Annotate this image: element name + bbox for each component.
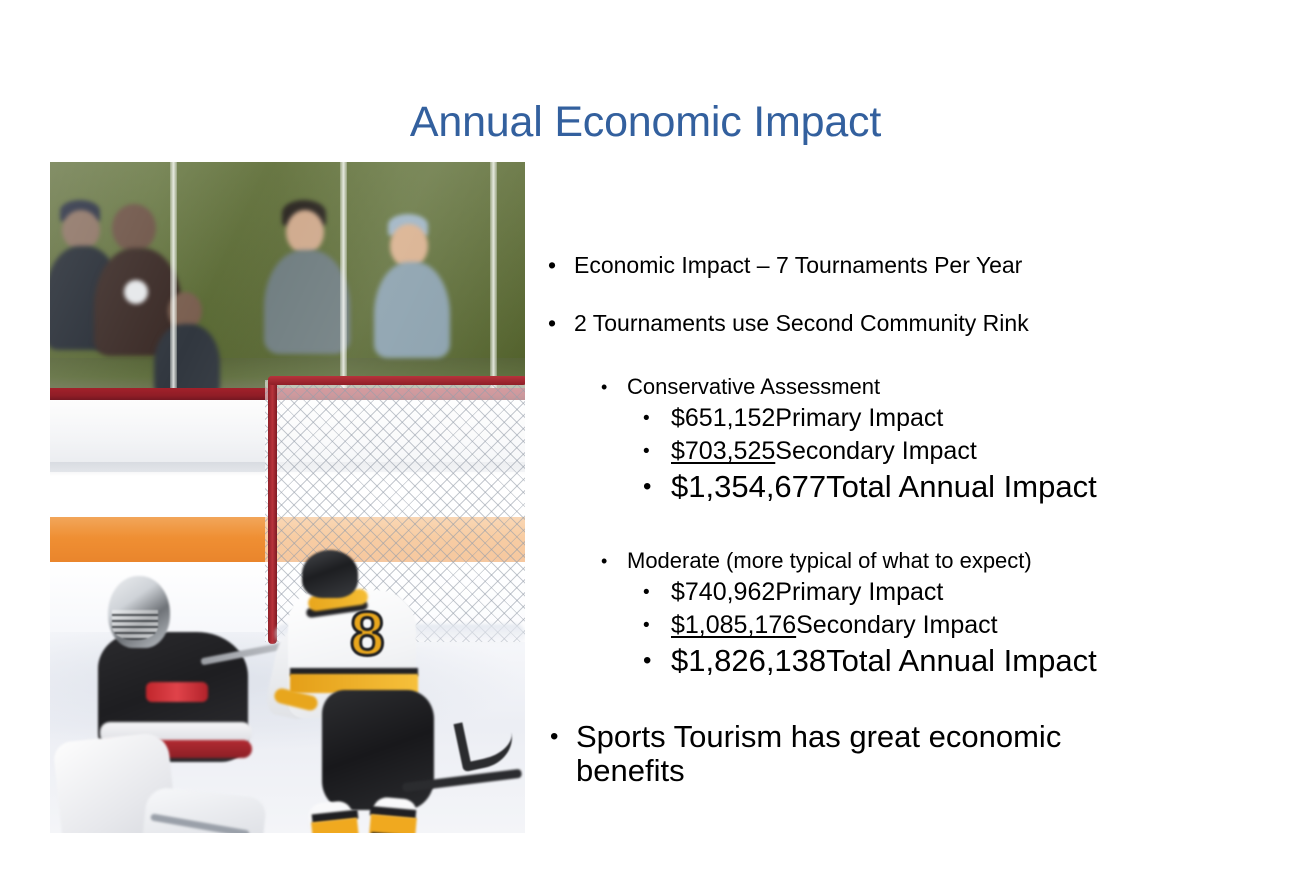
amount-primary: $651,152 <box>671 402 775 435</box>
bullet-glyph: • <box>548 308 556 338</box>
bullet-glyph: • <box>550 720 558 754</box>
spacer <box>548 338 1248 372</box>
spacer <box>548 280 1248 308</box>
amount-label: Secondary Impact <box>775 435 977 468</box>
bullet-glyph: • <box>643 609 650 642</box>
amount-secondary: $1,085,176 <box>671 609 796 642</box>
skater-pants <box>322 690 434 810</box>
bullet-glyph: • <box>643 435 650 468</box>
amount-label: Total Annual Impact <box>826 468 1097 506</box>
amount-primary: $740,962 <box>671 576 775 609</box>
amount-label: Total Annual Impact <box>826 642 1097 680</box>
heading-moderate-assessment: • Moderate (more typical of what to expe… <box>548 546 1248 576</box>
moderate-total-impact: • $1,826,138 Total Annual Impact <box>548 642 1248 680</box>
sock-band-gold <box>369 814 417 833</box>
bullet-economic-impact: • Economic Impact – 7 Tournaments Per Ye… <box>548 250 1248 280</box>
conservative-primary-impact: • $651,152 Primary Impact <box>548 402 1248 435</box>
skater-helmet <box>302 550 358 598</box>
bullet-second-rink: • 2 Tournaments use Second Community Rin… <box>548 308 1248 338</box>
glass-reflection <box>50 162 525 392</box>
moderate-secondary-impact: • $1,085,176 Secondary Impact <box>548 609 1248 642</box>
heading-text: Moderate (more typical of what to expect… <box>627 546 1032 576</box>
bullet-glyph: • <box>643 642 651 680</box>
goal-post <box>268 376 277 644</box>
moderate-primary-impact: • $740,962 Primary Impact <box>548 576 1248 609</box>
bullet-text: Sports Tourism has great economic benefi… <box>576 720 1116 788</box>
amount-label: Primary Impact <box>775 576 943 609</box>
amount-total: $1,354,677 <box>671 468 826 506</box>
bullet-glyph: • <box>601 372 607 402</box>
bullet-text: 2 Tournaments use Second Community Rink <box>574 308 1029 338</box>
bullet-sports-tourism: • Sports Tourism has great economic bene… <box>548 720 1248 788</box>
amount-label: Primary Impact <box>775 402 943 435</box>
amount-label: Secondary Impact <box>796 609 998 642</box>
goal-crossbar <box>268 376 525 385</box>
heading-conservative-assessment: • Conservative Assessment <box>548 372 1248 402</box>
bullet-glyph: • <box>601 546 607 576</box>
conservative-total-impact: • $1,354,677 Total Annual Impact <box>548 468 1248 506</box>
bullet-glyph: • <box>548 250 556 280</box>
heading-text: Conservative Assessment <box>627 372 880 402</box>
spacer <box>548 680 1248 720</box>
amount-total: $1,826,138 <box>671 642 826 680</box>
bullet-glyph: • <box>643 468 651 506</box>
bullet-glyph: • <box>643 576 650 609</box>
bullet-glyph: • <box>643 402 650 435</box>
spacer <box>548 506 1248 546</box>
hockey-game-photo: 8 <box>50 162 525 833</box>
amount-secondary: $703,525 <box>671 435 775 468</box>
conservative-secondary-impact: • $703,525 Secondary Impact <box>548 435 1248 468</box>
skater-jersey-number: 8 <box>350 604 394 666</box>
bullet-text: Economic Impact – 7 Tournaments Per Year <box>574 250 1022 280</box>
goalie-mask-cage <box>112 610 158 640</box>
goalie-jersey-logo <box>146 682 208 702</box>
page-title: Annual Economic Impact <box>0 96 1291 148</box>
content-body: • Economic Impact – 7 Tournaments Per Ye… <box>548 250 1248 788</box>
